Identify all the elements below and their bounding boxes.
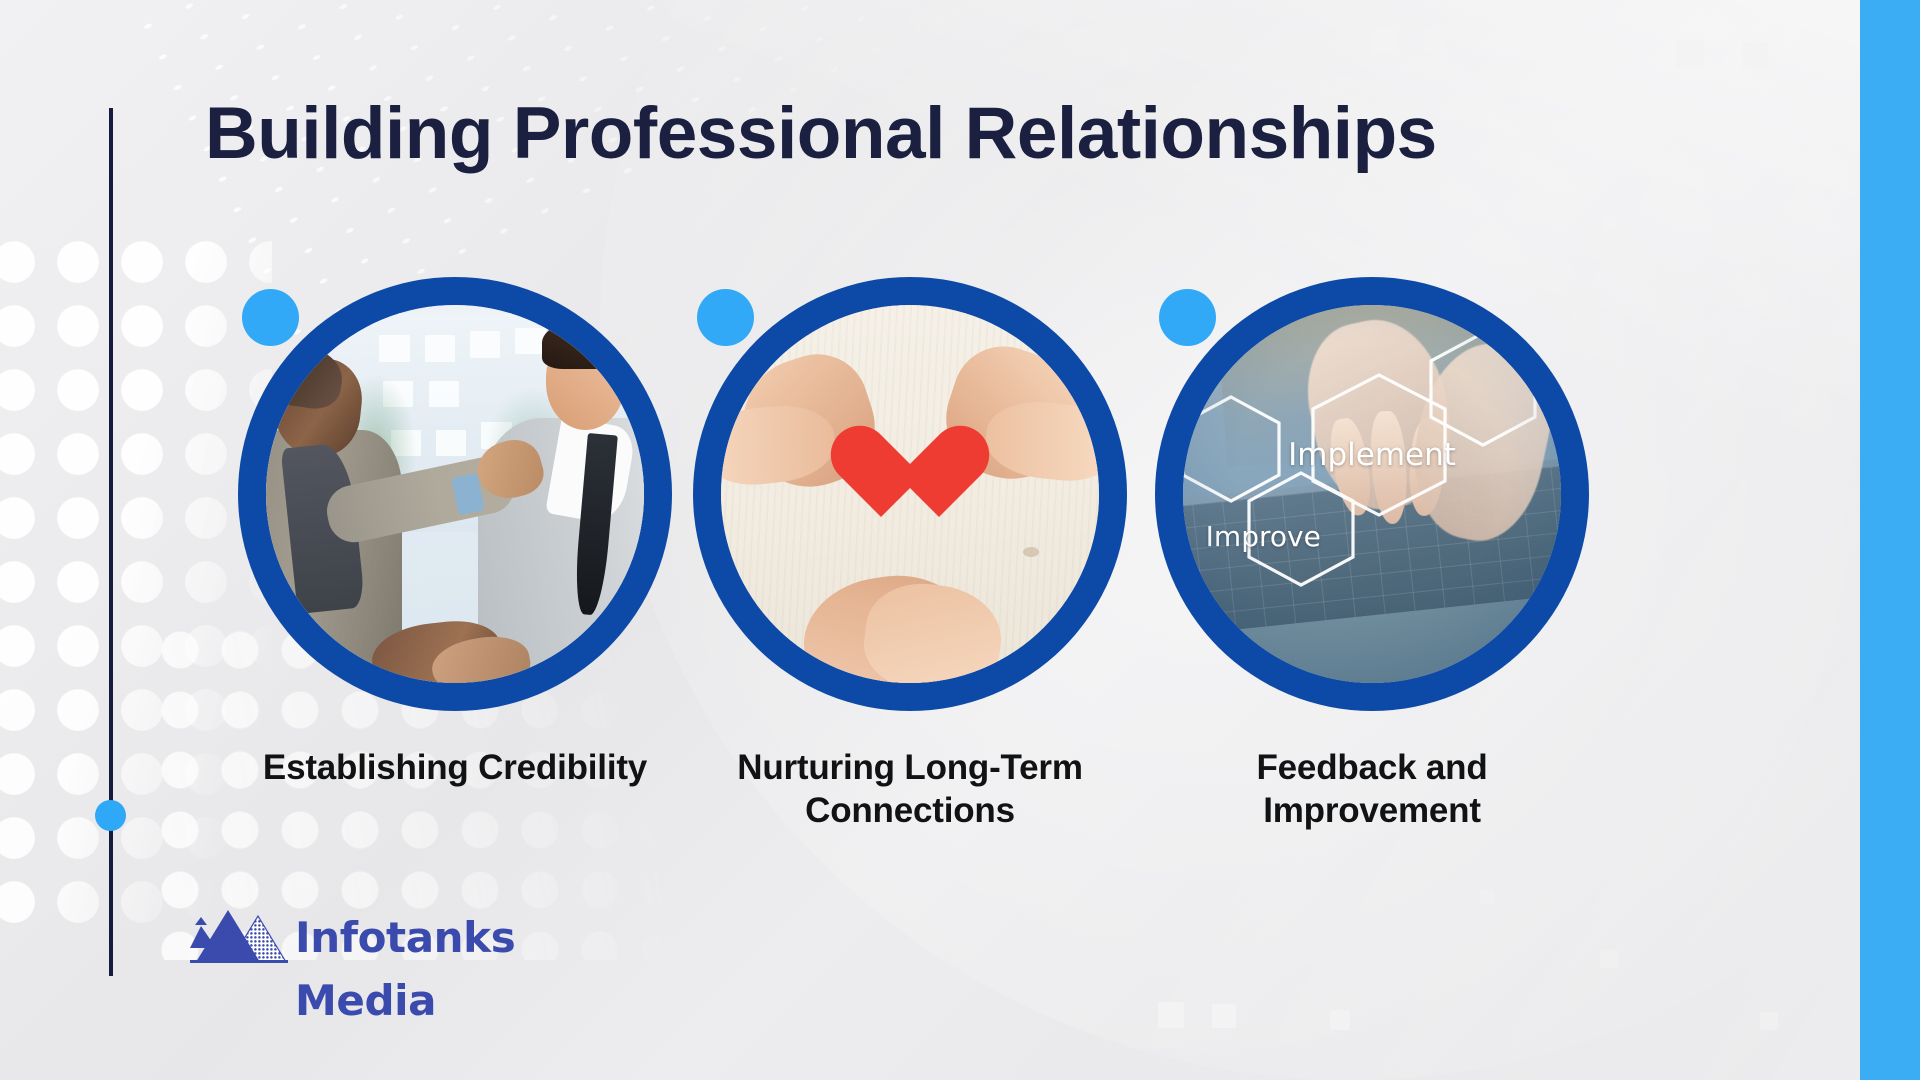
page-title: Building Professional Relationships	[205, 96, 1765, 173]
mountain-logo-icon	[190, 900, 294, 968]
image-ring-3: Implement Improve E n	[1155, 277, 1589, 711]
timeline-marker-dot	[95, 800, 126, 831]
logo[interactable]: Infotanks Media	[190, 900, 610, 978]
card-caption: Nurturing Long-Term Connections	[690, 747, 1130, 832]
photo-handshake	[266, 305, 644, 683]
image-ring-1	[238, 277, 672, 711]
photo-hands-heart	[721, 305, 1099, 683]
timeline-vertical-line	[109, 108, 113, 976]
card-feedback-improvement[interactable]: Implement Improve E n Feedback and Impro…	[1152, 277, 1592, 832]
photo-laptop-hexagons: Implement Improve E n	[1183, 305, 1561, 683]
card-caption: Establishing Credibility	[235, 747, 675, 790]
right-accent-bar	[1860, 0, 1920, 1080]
card-caption: Feedback and Improvement	[1152, 747, 1592, 832]
slide-canvas: Building Professional Relationships	[0, 0, 1920, 1080]
accent-dot-icon	[242, 289, 299, 346]
heart-icon	[854, 423, 966, 535]
image-ring-2	[693, 277, 1127, 711]
accent-dot-icon	[697, 289, 754, 346]
logo-text: Infotanks Media	[295, 906, 610, 1032]
card-establishing-credibility[interactable]: Establishing Credibility	[235, 277, 675, 790]
accent-dot-icon	[1159, 289, 1216, 346]
card-nurturing-connections[interactable]: Nurturing Long-Term Connections	[690, 277, 1130, 832]
